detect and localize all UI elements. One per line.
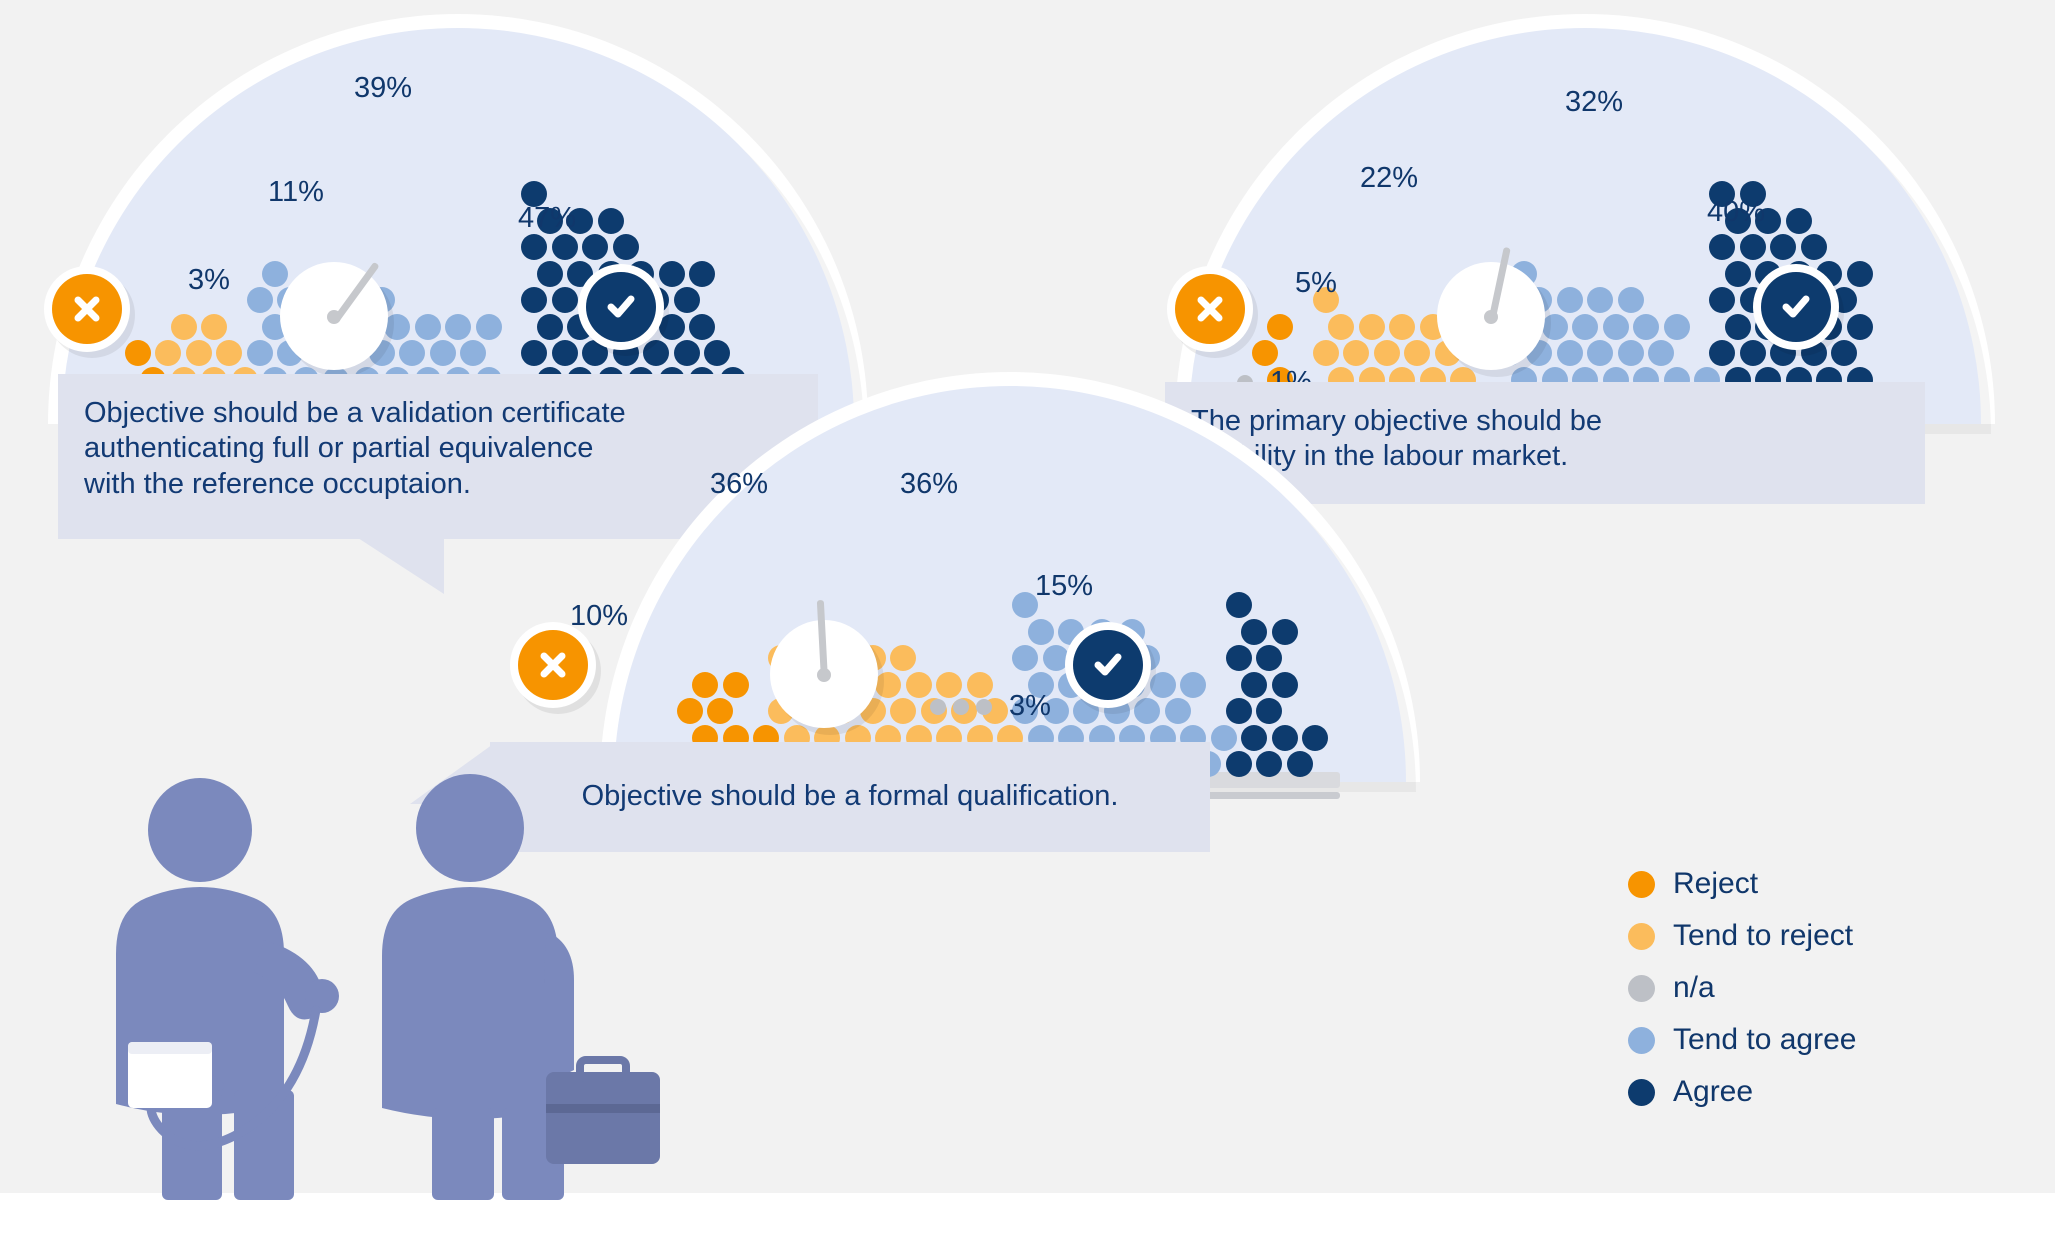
agree-badge[interactable]	[1065, 622, 1151, 708]
na-dot	[953, 699, 969, 715]
briefcase	[546, 1072, 660, 1164]
dome-background	[62, 28, 854, 424]
legend-item-reject[interactable]: Reject	[1628, 858, 1856, 910]
needle-pivot	[327, 310, 341, 324]
percent-label-reject: 3%	[188, 264, 230, 297]
legend-item-tend-to-agree[interactable]: Tend to agree	[1628, 1014, 1856, 1066]
legend-label: Agree	[1673, 1075, 1753, 1109]
reject-badge[interactable]	[510, 622, 596, 708]
legend-swatch-icon	[1628, 1079, 1655, 1106]
gauge-card-formal-qualification: 10% 36% 36% 15% 3%	[600, 372, 1440, 872]
infographic-canvas: 3% 11% 39% 47% Objective should be a val…	[0, 0, 2055, 1255]
legend-item-agree[interactable]: Agree	[1628, 1066, 1856, 1118]
legend-item-tend-to-reject[interactable]: Tend to reject	[1628, 910, 1856, 962]
person-head-left	[148, 778, 252, 882]
na-callout-formal-qualification: 3%	[930, 690, 1051, 723]
percent-label-agree: 47%	[518, 202, 576, 235]
cross-icon	[52, 274, 122, 344]
agree-badge[interactable]	[1753, 264, 1839, 350]
legend-label: Tend to reject	[1673, 919, 1853, 953]
percent-label-na: 3%	[1009, 690, 1051, 723]
agree-badge[interactable]	[578, 264, 664, 350]
percent-label-agree: 40%	[1707, 196, 1765, 229]
cross-icon	[518, 630, 588, 700]
legend-item-n-a[interactable]: n/a	[1628, 962, 1856, 1014]
people-illustration	[50, 760, 670, 1200]
legend-swatch-icon	[1628, 871, 1655, 898]
legend-swatch-icon	[1628, 923, 1655, 950]
check-icon	[1073, 630, 1143, 700]
reject-badge[interactable]	[1167, 266, 1253, 352]
percent-label-tend-reject: 36%	[710, 468, 768, 501]
na-dot	[976, 699, 992, 715]
bottom-white-band	[0, 1193, 2055, 1255]
percent-label-tend-agree: 32%	[1565, 86, 1623, 119]
percent-label-tend-agree: 36%	[900, 468, 958, 501]
percent-label-tend-reject: 22%	[1360, 162, 1418, 195]
percent-label-agree: 15%	[1035, 570, 1093, 603]
percent-label-tend-reject: 11%	[268, 176, 324, 209]
needle-pivot	[817, 668, 831, 682]
check-icon	[586, 272, 656, 342]
cross-icon	[1175, 274, 1245, 344]
percent-label-reject: 10%	[570, 600, 628, 633]
legend-swatch-icon	[1628, 1027, 1655, 1054]
caption-bubble-tail	[358, 538, 444, 594]
legend-label: n/a	[1673, 971, 1715, 1005]
percent-label-reject: 5%	[1295, 267, 1337, 300]
response-legend: RejectTend to rejectn/aTend to agreeAgre…	[1628, 858, 1856, 1118]
na-dot	[930, 699, 946, 715]
person-head-right	[416, 774, 524, 882]
needle-pivot	[1484, 310, 1498, 324]
legend-swatch-icon	[1628, 975, 1655, 1002]
legend-label: Tend to agree	[1673, 1023, 1856, 1057]
percent-label-tend-agree: 39%	[354, 72, 412, 105]
reject-badge[interactable]	[44, 266, 130, 352]
legend-label: Reject	[1673, 867, 1758, 901]
check-icon	[1761, 272, 1831, 342]
